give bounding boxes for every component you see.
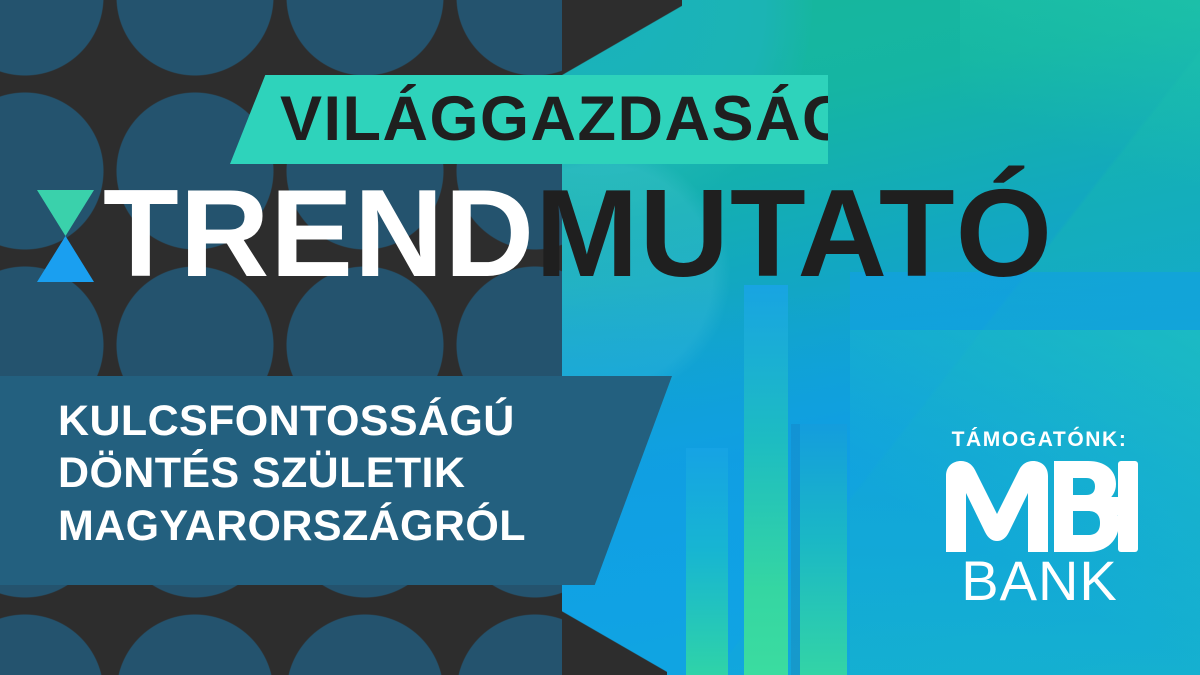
decorative-bar-2 [744, 285, 788, 675]
sponsor-label: TÁMOGATÓNK: [932, 428, 1147, 452]
sponsor-block: TÁMOGATÓNK: BANK [932, 428, 1147, 609]
decorative-bar-3 [800, 424, 847, 675]
promo-card: VILÁGGAZDASÁG TRENDMUTATÓ KULCSFONTOSSÁG… [0, 0, 1200, 675]
mbh-logo-icon [942, 460, 1138, 555]
hourglass-icon [37, 190, 94, 282]
ribbon-label: VILÁGGAZDASÁG [230, 88, 853, 151]
headline-line-3: MAGYARORSZÁGRÓL [58, 500, 526, 552]
headline-line-1: KULCSFONTOSSÁGÚ [58, 395, 526, 447]
wordmark-trend: TREND [103, 165, 535, 303]
decorative-bar-separator [791, 424, 800, 675]
decorative-bar-1 [686, 448, 728, 675]
headline-line-2: DÖNTÉS SZÜLETIK [58, 447, 526, 499]
headline-text: KULCSFONTOSSÁGÚ DÖNTÉS SZÜLETIK MAGYAROR… [58, 395, 526, 552]
trendmutato-wordmark: TRENDMUTATÓ [103, 172, 1053, 296]
wordmark-mutato: MUTATÓ [535, 165, 1053, 303]
sponsor-bank-word: BANK [932, 553, 1147, 609]
viaggazdasag-ribbon: VILÁGGAZDASÁG [230, 75, 828, 164]
